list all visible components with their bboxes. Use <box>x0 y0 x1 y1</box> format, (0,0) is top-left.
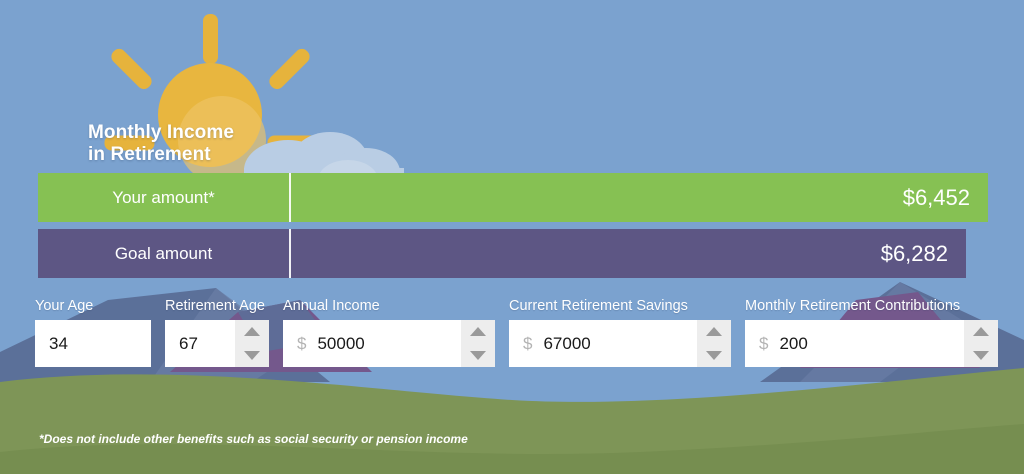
field-label-current-retirement-savings: Current Retirement Savings <box>509 298 731 314</box>
comparison-bars: Your amount* $6,452 Goal amount $6,282 <box>38 173 988 278</box>
your-amount-value: $6,452 <box>903 173 970 222</box>
your-amount-label: Your amount* <box>38 173 291 222</box>
chevron-up-icon <box>470 327 486 336</box>
monthly-retirement-contributions-stepper[interactable] <box>964 320 998 367</box>
field-annual-income: Annual Income $ 50000 <box>283 298 495 367</box>
chevron-up-icon <box>244 327 260 336</box>
chevron-up-icon <box>973 327 989 336</box>
annual-income-input[interactable]: $ 50000 <box>283 320 495 367</box>
your-age-value: 34 <box>49 334 68 354</box>
chevron-down-icon <box>470 351 486 360</box>
field-retirement-age: Retirement Age 67 <box>165 298 269 367</box>
stepper-down-button[interactable] <box>964 344 998 368</box>
dollar-sign-icon: $ <box>297 334 306 354</box>
footnote-text: *Does not include other benefits such as… <box>39 432 468 446</box>
stepper-down-button[interactable] <box>235 344 269 368</box>
chevron-down-icon <box>244 351 260 360</box>
retirement-age-stepper[interactable] <box>235 320 269 367</box>
chevron-down-icon <box>973 351 989 360</box>
field-label-retirement-age: Retirement Age <box>165 298 269 314</box>
title-line-2: in Retirement <box>88 144 348 166</box>
monthly-retirement-contributions-input[interactable]: $ 200 <box>745 320 998 367</box>
chevron-down-icon <box>706 351 722 360</box>
current-retirement-savings-value: 67000 <box>543 334 590 354</box>
your-age-input[interactable]: 34 <box>35 320 151 367</box>
field-monthly-retirement-contributions: Monthly Retirement Contributions $ 200 <box>745 298 998 367</box>
field-current-retirement-savings: Current Retirement Savings $ 67000 <box>509 298 731 367</box>
chevron-up-icon <box>706 327 722 336</box>
goal-amount-bar: Goal amount $6,282 <box>38 229 966 278</box>
annual-income-stepper[interactable] <box>461 320 495 367</box>
field-label-monthly-retirement-contributions: Monthly Retirement Contributions <box>745 298 998 314</box>
goal-amount-label: Goal amount <box>38 229 291 278</box>
field-label-annual-income: Annual Income <box>283 298 495 314</box>
current-retirement-savings-stepper[interactable] <box>697 320 731 367</box>
monthly-retirement-contributions-value: 200 <box>779 334 807 354</box>
stepper-up-button[interactable] <box>697 320 731 344</box>
stepper-down-button[interactable] <box>697 344 731 368</box>
title-line-1: Monthly Income <box>88 122 348 144</box>
retirement-age-value: 67 <box>179 334 198 354</box>
field-label-your-age: Your Age <box>35 298 151 314</box>
dollar-sign-icon: $ <box>759 334 768 354</box>
page-title: Monthly Income in Retirement <box>88 122 348 166</box>
retirement-age-input[interactable]: 67 <box>165 320 269 367</box>
field-your-age: Your Age 34 <box>35 298 151 367</box>
current-retirement-savings-input[interactable]: $ 67000 <box>509 320 731 367</box>
input-fields-row: Your Age 34 Retirement Age 67 <box>35 298 1012 367</box>
stepper-up-button[interactable] <box>235 320 269 344</box>
your-amount-bar: Your amount* $6,452 <box>38 173 988 222</box>
stepper-up-button[interactable] <box>461 320 495 344</box>
goal-amount-value: $6,282 <box>881 229 948 278</box>
dollar-sign-icon: $ <box>523 334 532 354</box>
stepper-down-button[interactable] <box>461 344 495 368</box>
stepper-up-button[interactable] <box>964 320 998 344</box>
annual-income-value: 50000 <box>317 334 364 354</box>
retirement-calculator-widget: Monthly Income in Retirement Your amount… <box>0 0 1024 474</box>
